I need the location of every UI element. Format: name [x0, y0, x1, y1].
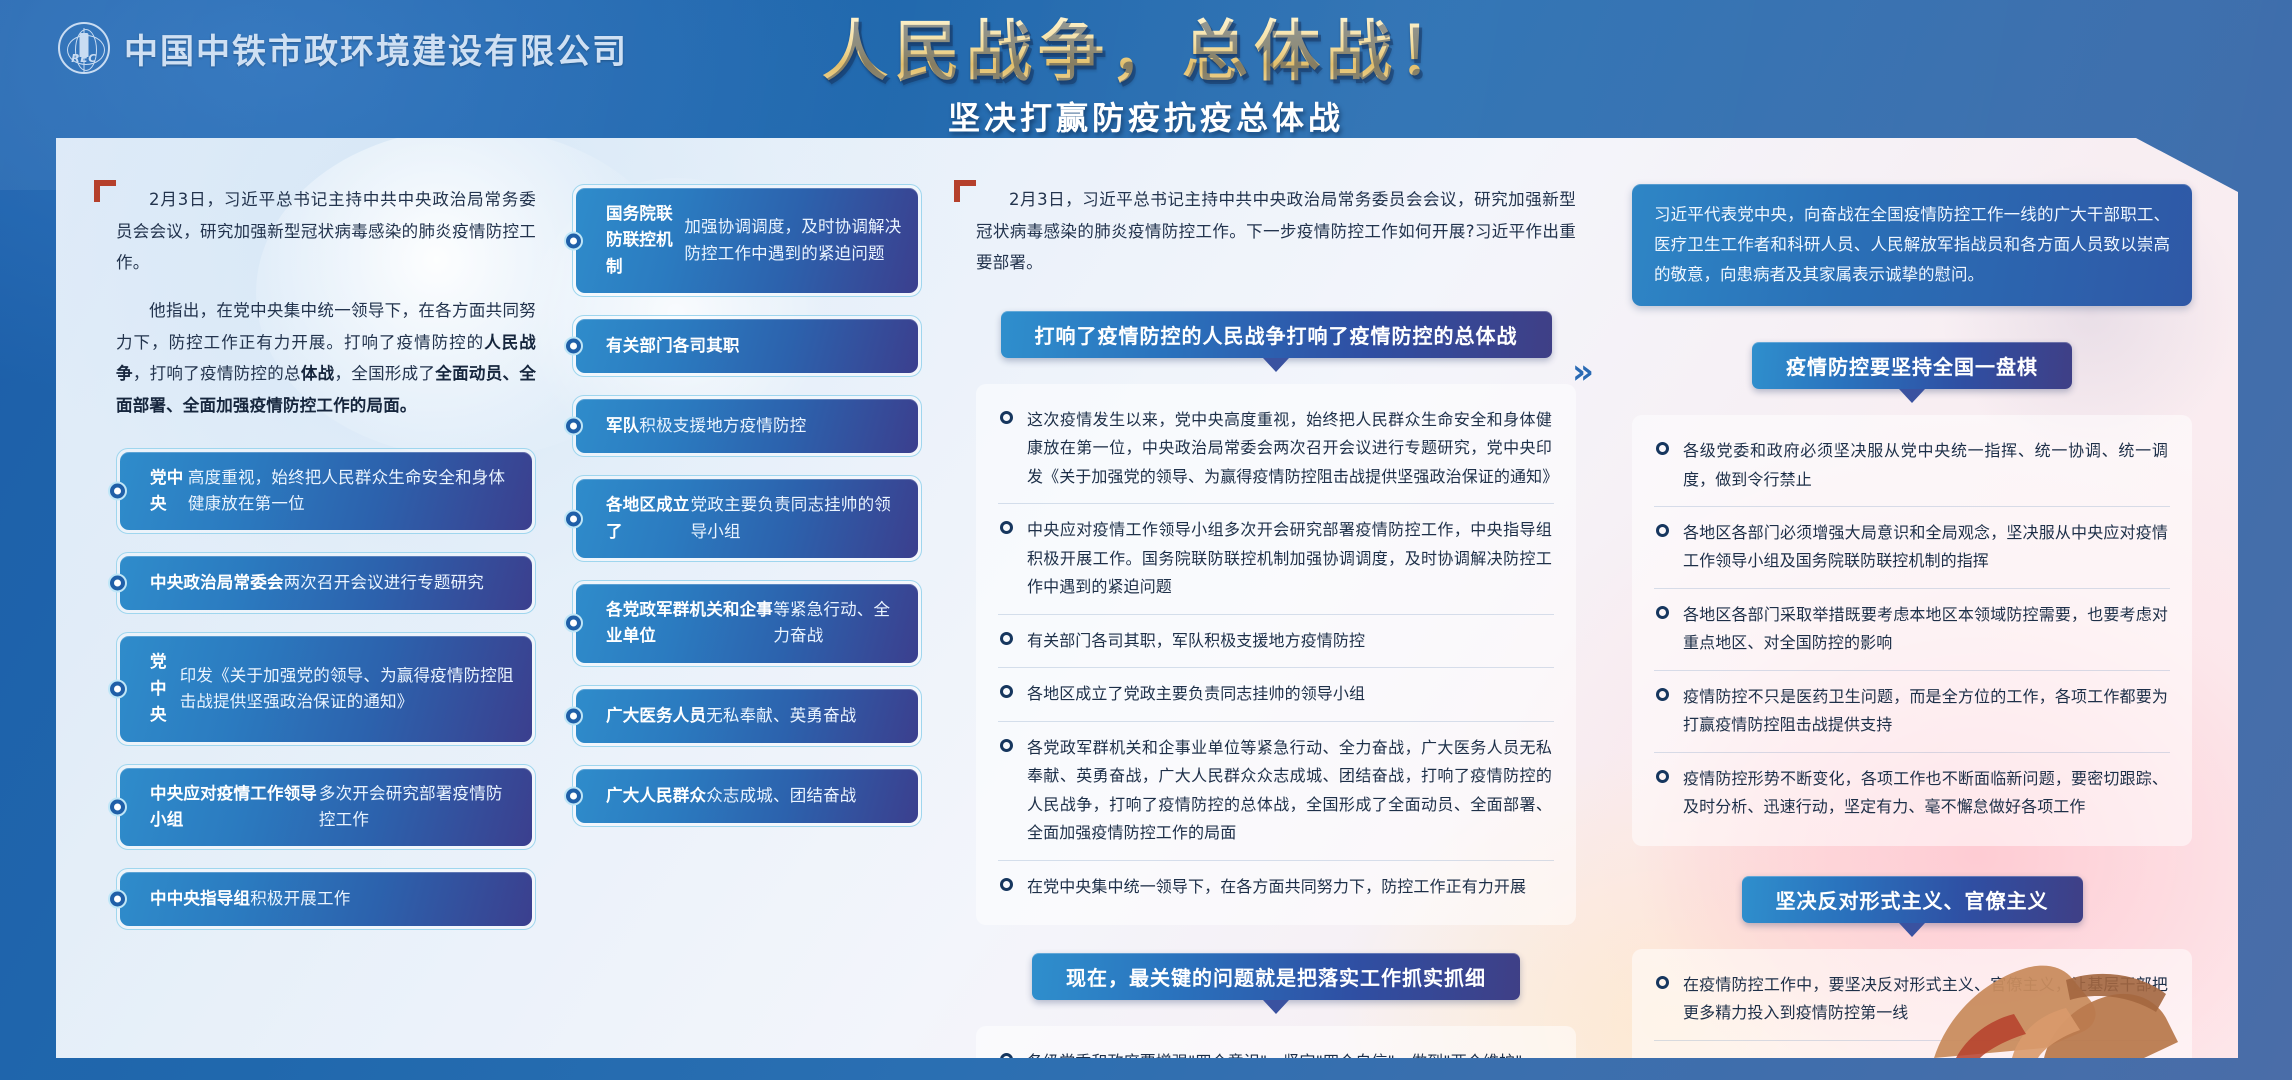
banner-arrow-icon [1263, 358, 1289, 372]
col4-intro-box: 习近平代表党中央，向奋战在全国疫情防控工作一线的广大干部职工、医疗卫生工作者和科… [1632, 184, 2192, 306]
col3-list2-item[interactable]: 各级党委和政府要增强"四个意识"，坚定"四个自信"，做到"两个维护" [998, 1036, 1554, 1080]
poster-root: REC 中国中铁市政环境建设有限公司 人民战争，总体战！ 坚决打赢防疫抗疫总体战… [0, 0, 2292, 1080]
list-item-text: 有关部门各司其职，军队积极支援地方疫情防控 [1027, 627, 1365, 655]
page-title: 人民战争，总体战！ [0, 16, 2292, 87]
col4-list1-item[interactable]: 各地区各部门必须增强大局意识和全局观念，坚决服从中央应对疫情工作领导小组及国务院… [1654, 507, 2170, 589]
col3-list1-item[interactable]: 中央应对疫情工作领导小组多次开会研究部署疫情防控工作，中央指导组积极开展工作。国… [998, 504, 1554, 614]
list-bullet-icon [1000, 1053, 1013, 1066]
pill-label: 中中央指导组积极开展工作 [120, 872, 532, 926]
col3-list1-item[interactable]: 在党中央集中统一领导下，在各方面共同努力下，防控工作正有力开展 [998, 861, 1554, 913]
list-bullet-icon [1656, 688, 1669, 701]
banner-label: 疫情防控要坚持全国一盘棋 [1752, 342, 2072, 389]
pill-bullet-icon [108, 574, 127, 593]
corner-bracket-icon [954, 180, 976, 202]
col4-banner-1: 疫情防控要坚持全国一盘棋 [1632, 342, 2192, 389]
col1-paragraph-1: 2月3日，习近平总书记主持中共中央政治局常务委员会会议，研究加强新型冠状病毒感染… [116, 184, 536, 279]
list-item-text: 在党中央集中统一领导下，在各方面共同努力下，防控工作正有力开展 [1027, 873, 1526, 901]
pill-label: 各地区成立了党政主要负责同志挂帅的领导小组 [576, 479, 918, 558]
list-item-text: 各党政军群机关和企事业单位等紧急行动、全力奋战，广大医务人员无私奉献、英勇奋战，… [1027, 734, 1552, 848]
list-item-text: 各地区各部门必须增强大局意识和全局观念，坚决服从中央应对疫情工作领导小组及国务院… [1683, 519, 2168, 576]
pill-label: 中央政治局常委会两次召开会议进行专题研究 [120, 556, 532, 610]
col4-list-one: 各级党委和政府必须坚决服从党中央统一指挥、统一协调、统一调度，做到令行禁止各地区… [1632, 415, 2192, 846]
column-three: 2月3日，习近平总书记主持中共中央政治局常务委员会会议，研究加强新型冠状病毒感染… [976, 138, 1576, 1080]
col3-list1-item[interactable]: 各地区成立了党政主要负责同志挂帅的领导小组 [998, 668, 1554, 721]
col1-pill-list: 党中央高度重视，始终把人民群众生命安全和身体健康放在第一位中央政治局常委会两次召… [116, 448, 536, 931]
banner-arrow-icon [1899, 923, 1925, 937]
banner-label: 坚决反对形式主义、官僚主义 [1742, 876, 2083, 923]
pill-bullet-icon [564, 231, 583, 250]
col1-pill-item[interactable]: 中中央指导组积极开展工作 [116, 868, 536, 930]
col4-list2-item[interactable]: 对党中央决策部署贯彻落实不力的，对不服从统一指挥和调度、本位主义严重的，对不敢担… [1654, 1041, 2170, 1080]
banner-arrow-icon [1263, 1000, 1289, 1014]
list-bullet-icon [1656, 442, 1669, 455]
list-bullet-icon [1000, 521, 1013, 534]
pill-bullet-icon [564, 786, 583, 805]
chevron-right-icon: » [1572, 352, 1590, 392]
list-item-text: 各级党委和政府必须坚决服从党中央统一指挥、统一协调、统一调度，做到令行禁止 [1683, 437, 2168, 494]
pill-bullet-icon [108, 798, 127, 817]
list-bullet-icon [1656, 524, 1669, 537]
pill-label: 各党政军群机关和企事业单位等紧急行动、全力奋战 [576, 584, 918, 663]
col3-list1-item[interactable]: 有关部门各司其职，军队积极支援地方疫情防控 [998, 615, 1554, 668]
col2-pill-item[interactable]: 广大人民群众众志成城、团结奋战 [572, 765, 922, 827]
col2-pill-item[interactable]: 军队积极支援地方疫情防控 [572, 395, 922, 457]
col1-pill-item[interactable]: 中央应对疫情工作领导小组多次开会研究部署疫情防控工作 [116, 764, 536, 851]
list-bullet-icon [1656, 1058, 1669, 1071]
list-bullet-icon [1656, 606, 1669, 619]
col4-list1-item[interactable]: 疫情防控形势不断变化，各项工作也不断面临新问题，要密切跟踪、及时分析、迅速行动，… [1654, 753, 2170, 834]
list-item-text: 疫情防控不只是医药卫生问题，而是全方位的工作，各项工作都要为打赢疫情防控阻击战提… [1683, 683, 2168, 740]
col2-pill-item[interactable]: 有关部门各司其职 [572, 315, 922, 377]
list-bullet-icon [1000, 878, 1013, 891]
col2-pill-item[interactable]: 广大医务人员无私奉献、英勇奋战 [572, 685, 922, 747]
col4-list1-item[interactable]: 各地区各部门采取举措既要考虑本地区本领域防控需要，也要考虑对重点地区、对全国防控… [1654, 589, 2170, 671]
col1-pill-item[interactable]: 党中央高度重视，始终把人民群众生命安全和身体健康放在第一位 [116, 448, 536, 535]
col3-list1-item[interactable]: 各党政军群机关和企事业单位等紧急行动、全力奋战，广大医务人员无私奉献、英勇奋战，… [998, 722, 1554, 861]
pill-label: 有关部门各司其职 [576, 319, 918, 373]
pill-label: 党中央高度重视，始终把人民群众生命安全和身体健康放在第一位 [120, 452, 532, 531]
list-item-text: 疫情防控形势不断变化，各项工作也不断面临新问题，要密切跟踪、及时分析、迅速行动，… [1683, 765, 2168, 822]
col3-list-one: 这次疫情发生以来，党中央高度重视，始终把人民群众生命安全和身体健康放在第一位，中… [976, 384, 1576, 925]
pill-label: 中央应对疫情工作领导小组多次开会研究部署疫情防控工作 [120, 768, 532, 847]
pill-bullet-icon [108, 680, 127, 699]
list-item-text: 在疫情防控工作中，要坚决反对形式主义、官僚主义，让基层干部把更多精力投入到疫情防… [1683, 971, 2168, 1028]
col1-paragraph-2: 他指出，在党中央集中统一领导下，在各方面共同努力下，防控工作正有力开展。打响了疫… [116, 295, 536, 422]
list-bullet-icon [1000, 739, 1013, 752]
column-two: 国务院联防联控机制加强协调调度，及时协调解决防控工作中遇到的紧迫问题有关部门各司… [572, 138, 922, 845]
col4-list-two: 在疫情防控工作中，要坚决反对形式主义、官僚主义，让基层干部把更多精力投入到疫情防… [1632, 949, 2192, 1080]
pill-bullet-icon [564, 417, 583, 436]
pill-bullet-icon [564, 706, 583, 725]
banner-label: 打响了疫情防控的人民战争打响了疫情防控的总体战 [1001, 311, 1552, 358]
col1-pill-item[interactable]: 党中央印发《关于加强党的领导、为赢得疫情防控阻击战提供坚强政治保证的通知》 [116, 632, 536, 745]
list-item-text: 这次疫情发生以来，党中央高度重视，始终把人民群众生命安全和身体健康放在第一位，中… [1027, 406, 1552, 491]
col2-pill-item[interactable]: 国务院联防联控机制加强协调调度，及时协调解决防控工作中遇到的紧迫问题 [572, 184, 922, 297]
pill-label: 军队积极支援地方疫情防控 [576, 399, 918, 453]
list-item-text: 对党中央决策部署贯彻落实不力的，对不服从统一指挥和调度、本位主义严重的，对不敢担… [1683, 1053, 2168, 1080]
col2-pill-item[interactable]: 各党政军群机关和企事业单位等紧急行动、全力奋战 [572, 580, 922, 667]
column-four: 习近平代表党中央，向奋战在全国疫情防控工作一线的广大干部职工、医疗卫生工作者和科… [1632, 138, 2192, 1080]
col4-list1-item[interactable]: 各级党委和政府必须坚决服从党中央统一指挥、统一协调、统一调度，做到令行禁止 [1654, 425, 2170, 507]
pill-bullet-icon [108, 890, 127, 909]
banner-label: 现在，最关键的问题就是把落实工作抓实抓细 [1032, 953, 1520, 1000]
col4-list1-item[interactable]: 疫情防控不只是医药卫生问题，而是全方位的工作，各项工作都要为打赢疫情防控阻击战提… [1654, 671, 2170, 753]
col4-list2-item[interactable]: 在疫情防控工作中，要坚决反对形式主义、官僚主义，让基层干部把更多精力投入到疫情防… [1654, 959, 2170, 1041]
list-item-text: 各级党委和政府要增强"四个意识"，坚定"四个自信"，做到"两个维护" [1027, 1048, 1523, 1076]
pill-bullet-icon [108, 482, 127, 501]
pill-label: 党中央印发《关于加强党的领导、为赢得疫情防控阻击战提供坚强政治保证的通知》 [120, 636, 532, 741]
content-panel: 2月3日，习近平总书记主持中共中央政治局常务委员会会议，研究加强新型冠状病毒感染… [56, 138, 2238, 1058]
col4-banner-2: 坚决反对形式主义、官僚主义 [1632, 876, 2192, 923]
list-bullet-icon [1000, 411, 1013, 424]
pill-bullet-icon [564, 509, 583, 528]
list-item-text: 各地区各部门采取举措既要考虑本地区本领域防控需要，也要考虑对重点地区、对全国防控… [1683, 601, 2168, 658]
page-subtitle: 坚决打赢防疫抗疫总体战 [0, 93, 2292, 139]
list-bullet-icon [1000, 685, 1013, 698]
pill-bullet-icon [564, 614, 583, 633]
col3-banner-1: 打响了疫情防控的人民战争打响了疫情防控的总体战 [976, 311, 1576, 358]
list-bullet-icon [1000, 632, 1013, 645]
list-item-text: 各地区成立了党政主要负责同志挂帅的领导小组 [1027, 680, 1365, 708]
pill-label: 国务院联防联控机制加强协调调度，及时协调解决防控工作中遇到的紧迫问题 [576, 188, 918, 293]
pill-label: 广大人民群众众志成城、团结奋战 [576, 769, 918, 823]
col3-intro-paragraph: 2月3日，习近平总书记主持中共中央政治局常务委员会会议，研究加强新型冠状病毒感染… [976, 184, 1576, 279]
title-block: 人民战争，总体战！ 坚决打赢防疫抗疫总体战 [0, 16, 2292, 139]
list-bullet-icon [1656, 770, 1669, 783]
pill-label: 广大医务人员无私奉献、英勇奋战 [576, 689, 918, 743]
col2-pill-list: 国务院联防联控机制加强协调调度，及时协调解决防控工作中遇到的紧迫问题有关部门各司… [572, 184, 922, 827]
list-item-text: 中央应对疫情工作领导小组多次开会研究部署疫情防控工作，中央指导组积极开展工作。国… [1027, 516, 1552, 601]
col1-pill-item[interactable]: 中央政治局常委会两次召开会议进行专题研究 [116, 552, 536, 614]
col2-pill-item[interactable]: 各地区成立了党政主要负责同志挂帅的领导小组 [572, 475, 922, 562]
list-bullet-icon [1656, 976, 1669, 989]
column-one: 2月3日，习近平总书记主持中共中央政治局常务委员会会议，研究加强新型冠状病毒感染… [116, 138, 536, 948]
col3-list-two: 各级党委和政府要增强"四个意识"，坚定"四个自信"，做到"两个维护"认真贯彻落实… [976, 1026, 1576, 1080]
corner-bracket-icon [94, 180, 116, 202]
col3-list1-item[interactable]: 这次疫情发生以来，党中央高度重视，始终把人民群众生命安全和身体健康放在第一位，中… [998, 394, 1554, 504]
banner-arrow-icon [1899, 389, 1925, 403]
col3-banner-2: 现在，最关键的问题就是把落实工作抓实抓细 [976, 953, 1576, 1000]
pill-bullet-icon [564, 337, 583, 356]
